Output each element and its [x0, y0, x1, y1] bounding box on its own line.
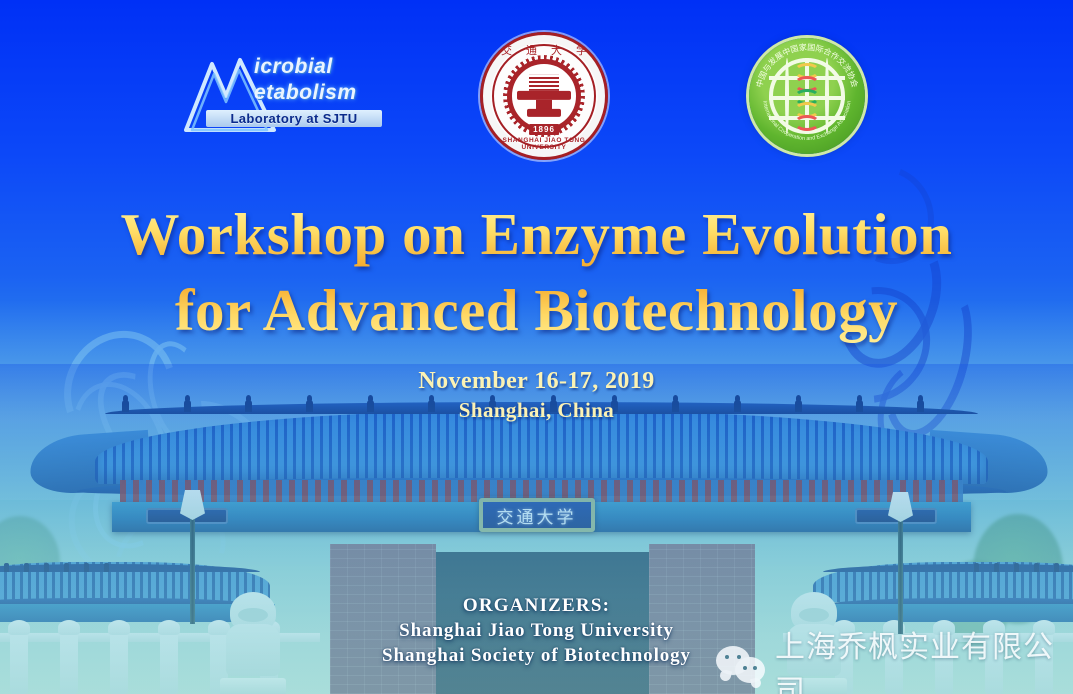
- seal-founding-year: 1896: [529, 124, 559, 135]
- svg-text:中国与发展中国家国际合作交流协会: 中国与发展中国家国际合作交流协会: [754, 42, 860, 89]
- wechat-dot: [737, 655, 741, 659]
- anvil-top: [517, 91, 571, 100]
- wechat-dot: [743, 666, 747, 670]
- seal-books-icon: [529, 75, 559, 91]
- wechat-bubble-small: [735, 657, 765, 683]
- seal-anvil-icon: [517, 75, 571, 121]
- svg-text:International Cooperation and: International Cooperation and Exchange A…: [761, 100, 852, 142]
- microbial-line: icrobial: [254, 56, 384, 77]
- poster-title: Workshop on Enzyme Evolution for Advance…: [0, 196, 1073, 348]
- organizers-heading: ORGANIZERS:: [0, 594, 1073, 618]
- microbial-metabolism-logo: icrobial etabolism Laboratory at SJTU: [176, 44, 384, 142]
- gate-plaque: 交通大学: [479, 498, 595, 532]
- metabolism-line: etabolism: [254, 82, 384, 103]
- side-ridge-left: [0, 564, 260, 572]
- green-logo-ring-text: 中国与发展中国家国际合作交流协会 International Cooperati…: [749, 38, 865, 154]
- event-location: Shanghai, China: [0, 396, 1073, 425]
- wechat-dot: [725, 655, 729, 659]
- lion-base: [220, 678, 286, 694]
- conference-poster: 交通大学: [0, 0, 1073, 694]
- wechat-watermark: 上海乔枫实业有限公司: [716, 622, 1073, 694]
- laboratory-line: Laboratory at SJTU: [206, 110, 382, 127]
- wechat-account-name: 上海乔枫实业有限公司: [775, 622, 1073, 694]
- microbial-metabolism-wordmark: icrobial etabolism: [254, 56, 384, 103]
- gate-plaque-text: 交通大学: [497, 503, 577, 528]
- logo-row: icrobial etabolism Laboratory at SJTU 交通…: [0, 0, 1073, 165]
- event-date: November 16-17, 2019: [0, 366, 1073, 396]
- seal-english-text: SHANGHAI JIAO TONG UNIVERSITY: [483, 137, 605, 151]
- poster-subtitle: November 16-17, 2019 Shanghai, China: [0, 366, 1073, 425]
- wechat-icon: [716, 646, 766, 686]
- wechat-dot: [753, 666, 757, 670]
- title-line-1: Workshop on Enzyme Evolution: [121, 201, 953, 267]
- anvil-foot: [527, 109, 561, 117]
- sjtu-seal-logo: 交通大学 1896 SHANGHAI JIAO TONG UNIVERSITY: [480, 32, 608, 160]
- green-globe-dna-logo: 中国与发展中国家国际合作交流协会 International Cooperati…: [749, 38, 865, 154]
- side-ridge-right: [823, 564, 1073, 572]
- title-line-2: for Advanced Biotechnology: [0, 272, 1073, 348]
